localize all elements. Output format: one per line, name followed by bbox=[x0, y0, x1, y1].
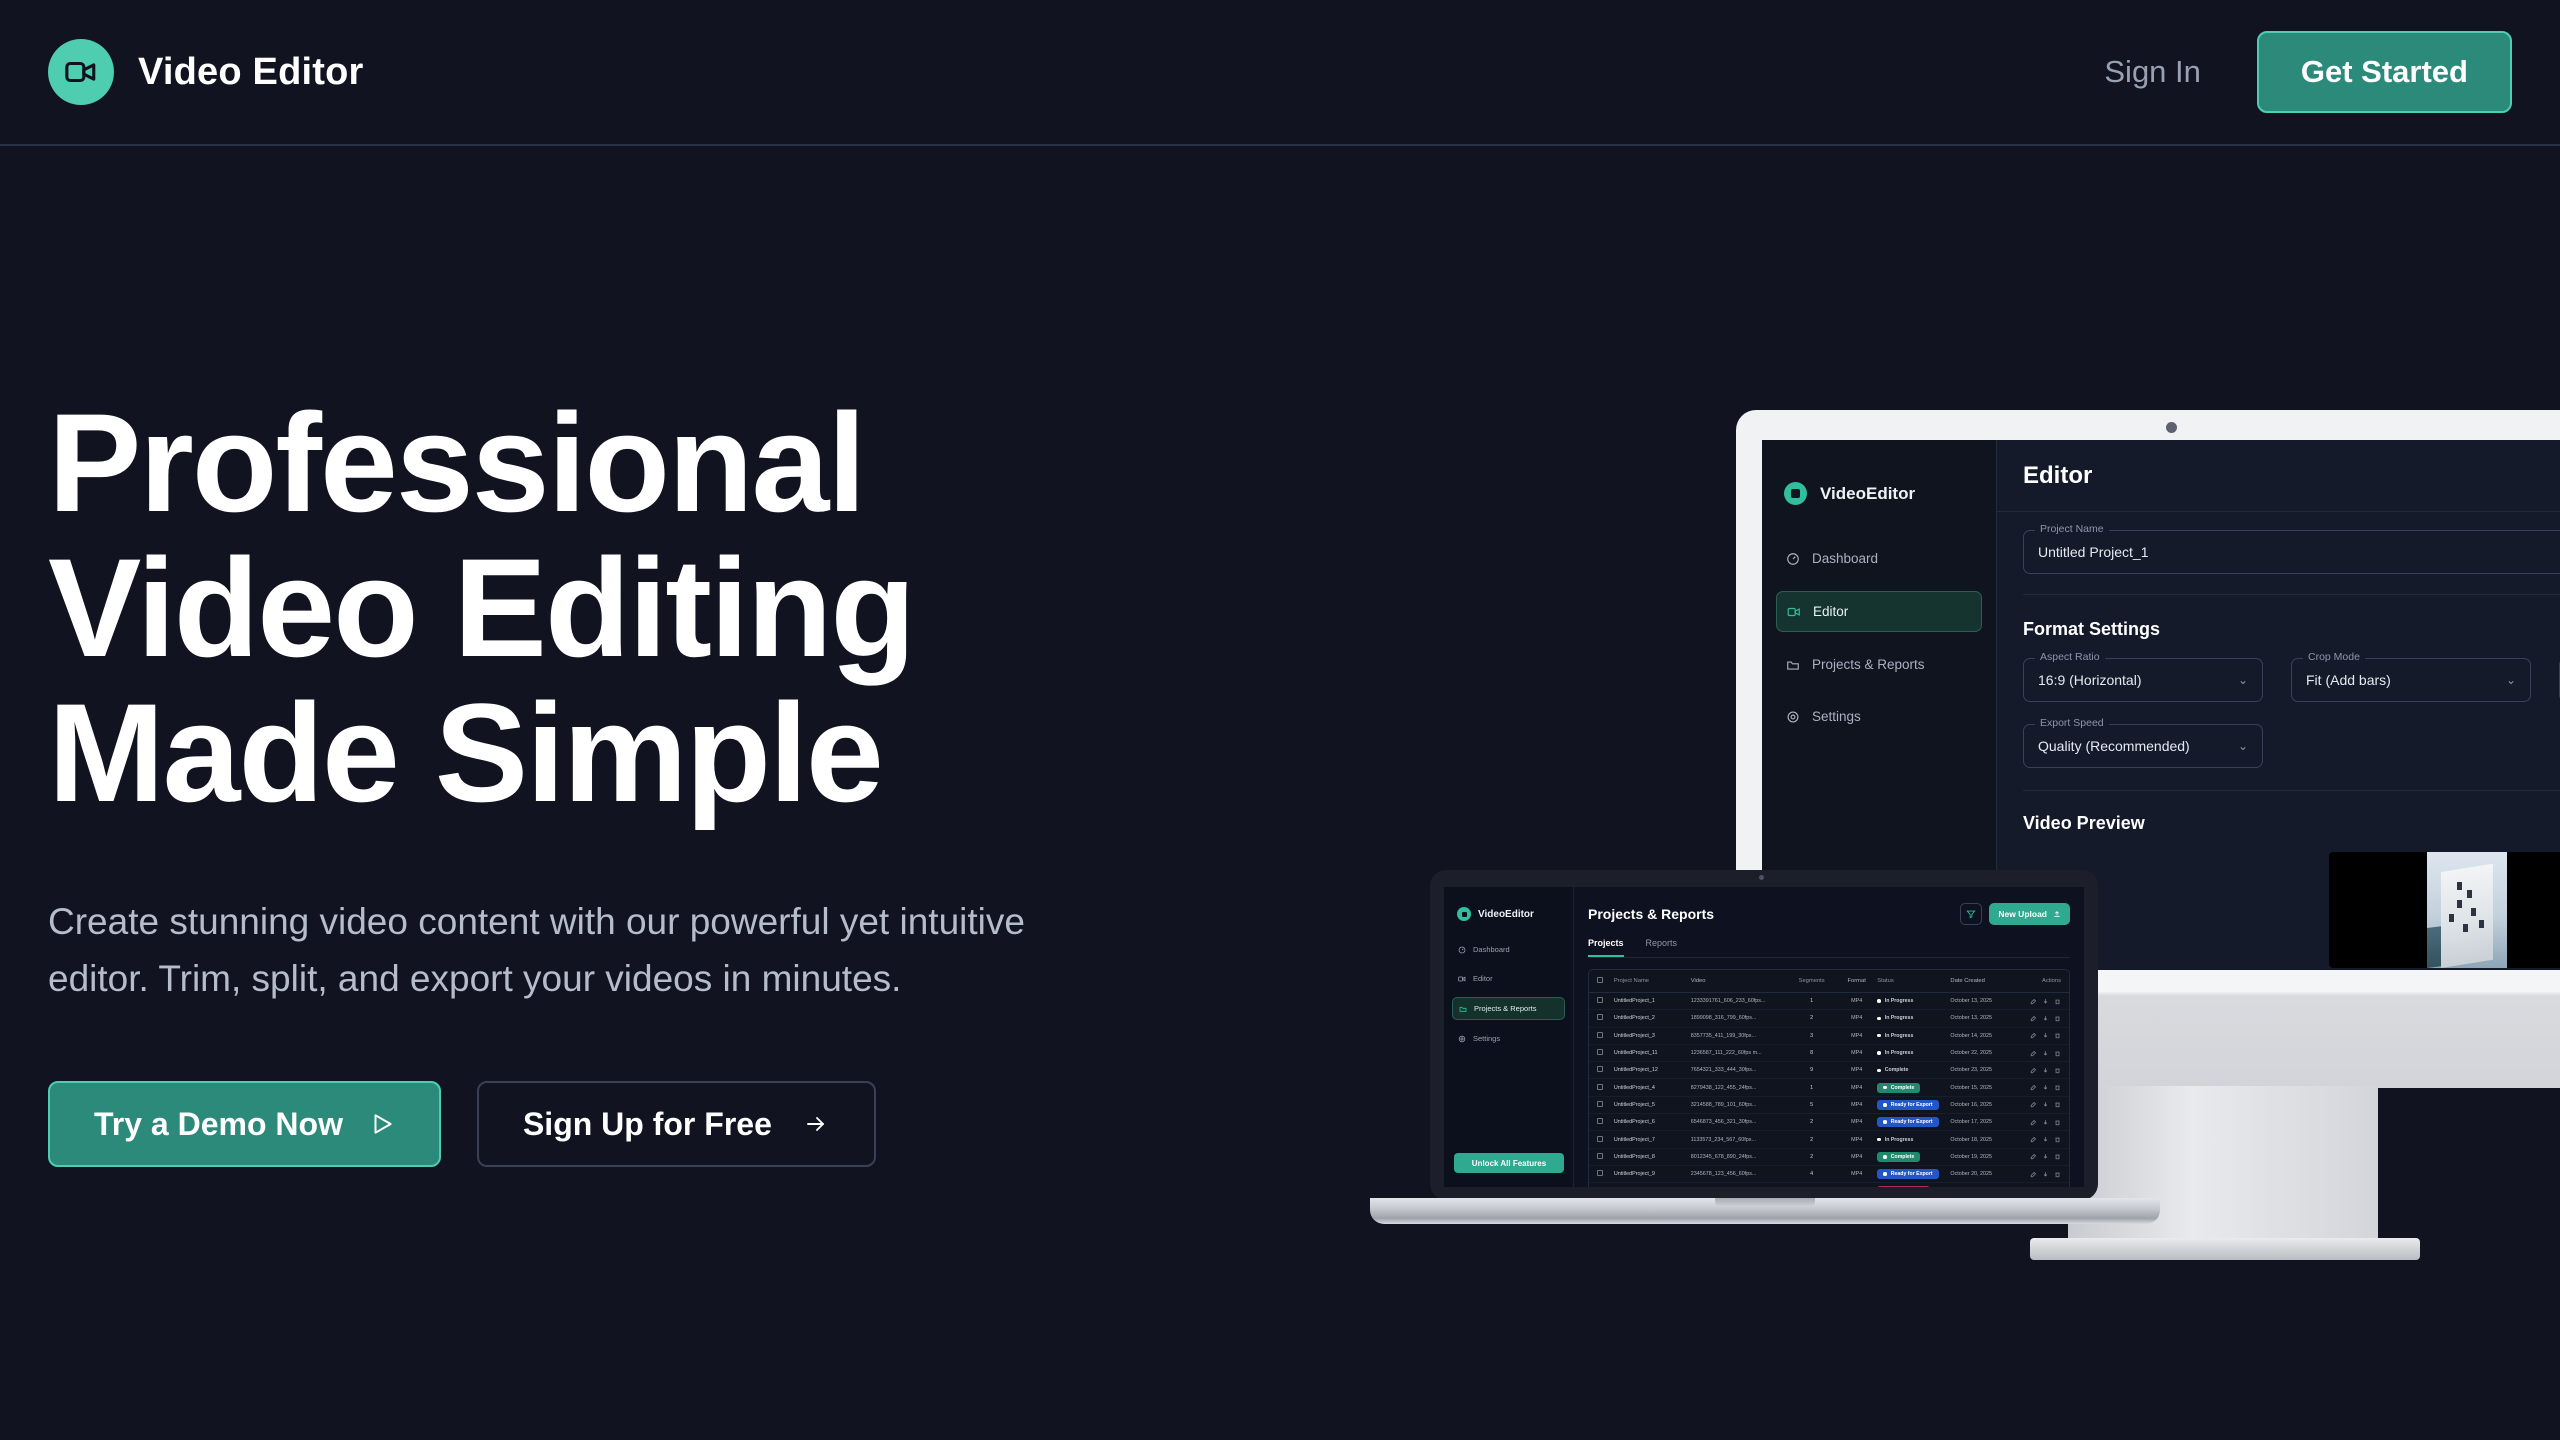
status-badge: In Progress bbox=[1877, 1013, 1919, 1023]
divider bbox=[2023, 790, 2560, 791]
sidebar-item-settings[interactable]: Settings bbox=[1776, 697, 1982, 736]
folder-icon bbox=[1786, 658, 1800, 672]
cell-project-name: UntitledProject_5 bbox=[1614, 1102, 1691, 1108]
unlock-all-features-button[interactable]: Unlock All Features bbox=[1454, 1153, 1564, 1173]
table-row[interactable]: UntitledProject_111236587_111_222_60fps … bbox=[1589, 1045, 2069, 1062]
row-checkbox[interactable] bbox=[1597, 1066, 1614, 1074]
gauge-icon bbox=[1458, 946, 1466, 954]
table-row[interactable]: UntitledProject_66546873_456_321_30fps..… bbox=[1589, 1114, 2069, 1131]
cell-video: 1899098_316_799_60fps... bbox=[1691, 1015, 1788, 1021]
video-preview-frame bbox=[2329, 852, 2560, 968]
export-speed-label: Export Speed bbox=[2035, 717, 2109, 729]
edit-icon bbox=[2030, 1101, 2037, 1108]
export-speed-value: Quality (Recommended) bbox=[2038, 738, 2190, 754]
cell-project-name: UntitledProject_1 bbox=[1614, 998, 1691, 1004]
cell-date-created: October 19, 2025 bbox=[1950, 1154, 2019, 1160]
format-settings-title: Format Settings bbox=[2023, 619, 2560, 640]
cell-date-created: October 15, 2025 bbox=[1950, 1085, 2019, 1091]
heading-line-2: Video Editing bbox=[48, 529, 914, 686]
cell-date-created: October 13, 2025 bbox=[1950, 998, 2019, 1004]
laptop-header-actions: New Upload bbox=[1960, 903, 2070, 925]
play-icon bbox=[369, 1111, 395, 1137]
laptop-nav: Dashboard Editor Projects & Reports bbox=[1444, 939, 1573, 1049]
cell-status: In Progress bbox=[1877, 1013, 1950, 1023]
sidebar-item-dashboard[interactable]: Dashboard bbox=[1452, 939, 1565, 960]
column-header-format[interactable]: Format bbox=[1836, 978, 1877, 984]
cell-segments: 3 bbox=[1787, 1033, 1836, 1039]
project-name-field[interactable]: Project Name Untitled Project_1 bbox=[2023, 530, 2560, 574]
cell-segments: 2 bbox=[1787, 1119, 1836, 1125]
row-checkbox[interactable] bbox=[1597, 1049, 1614, 1057]
status-badge: Ready for Export bbox=[1877, 1100, 1938, 1110]
arrow-right-icon bbox=[802, 1112, 830, 1136]
editor-brand: VideoEditor bbox=[1784, 482, 1996, 505]
cell-project-name: UntitledProject_11 bbox=[1614, 1050, 1691, 1056]
project-name-label: Project Name bbox=[2035, 523, 2109, 535]
cell-format: MP4 bbox=[1836, 1015, 1877, 1021]
table-row[interactable]: UntitledProject_48279438_122_455_24fps..… bbox=[1589, 1079, 2069, 1096]
row-checkbox[interactable] bbox=[1597, 1136, 1614, 1144]
editor-nav: Dashboard Editor Projects & Reports Sett… bbox=[1762, 539, 1996, 736]
row-actions[interactable] bbox=[2020, 1171, 2061, 1178]
sidebar-item-projects-reports[interactable]: Projects & Reports bbox=[1776, 645, 1982, 684]
cell-date-created: October 13, 2025 bbox=[1950, 1015, 2019, 1021]
column-header-actions: Actions bbox=[2020, 978, 2061, 984]
laptop-header: Projects & Reports New Upload bbox=[1588, 903, 2070, 925]
video-icon bbox=[1458, 975, 1466, 983]
cell-format: MP4 bbox=[1836, 1050, 1877, 1056]
cell-segments: 2 bbox=[1787, 1015, 1836, 1021]
row-actions[interactable] bbox=[2020, 1067, 2061, 1074]
cell-format: MP4 bbox=[1836, 998, 1877, 1004]
row-checkbox[interactable] bbox=[1597, 997, 1614, 1005]
cell-format: MP4 bbox=[1836, 1119, 1877, 1125]
hero-section: Professional Video Editing Made Simple C… bbox=[48, 390, 1168, 1167]
heading-line-1: Professional bbox=[48, 384, 864, 541]
cell-status: Complete bbox=[1877, 1083, 1950, 1093]
row-actions[interactable] bbox=[2020, 1101, 2061, 1108]
video-camera-icon bbox=[1784, 482, 1807, 505]
hero-subtitle: Create stunning video content with our p… bbox=[48, 893, 1108, 1007]
row-actions[interactable] bbox=[2020, 1136, 2061, 1143]
header-actions: Sign In Get Started bbox=[2104, 31, 2512, 113]
video-camera-icon bbox=[48, 39, 114, 105]
download-icon bbox=[2042, 1084, 2049, 1091]
delete-icon bbox=[2054, 1136, 2061, 1143]
editor-topbar: Editor Save Exp bbox=[1997, 440, 2560, 512]
divider bbox=[2023, 594, 2560, 595]
edit-icon bbox=[2030, 1050, 2037, 1057]
row-checkbox[interactable] bbox=[1597, 1170, 1614, 1178]
gear-icon bbox=[1458, 1035, 1466, 1043]
cell-status: In Progress bbox=[1877, 1031, 1950, 1041]
row-checkbox[interactable] bbox=[1597, 1032, 1614, 1040]
format-settings-row-1: Aspect Ratio 16:9 (Horizontal) ⌄ Crop Mo… bbox=[2023, 658, 2560, 702]
row-checkbox[interactable] bbox=[1597, 1153, 1614, 1161]
sidebar-item-label: Editor bbox=[1813, 604, 1848, 619]
cell-date-created: October 18, 2025 bbox=[1950, 1137, 2019, 1143]
status-badge: In Progress bbox=[1877, 1048, 1919, 1058]
sidebar-item-label: Dashboard bbox=[1812, 551, 1878, 566]
download-icon bbox=[2042, 1153, 2049, 1160]
cell-status: Ready for Export bbox=[1877, 1117, 1950, 1127]
cell-segments: 9 bbox=[1787, 1067, 1836, 1073]
cell-project-name: UntitledProject_12 bbox=[1614, 1067, 1691, 1073]
tab-reports[interactable]: Reports bbox=[1646, 938, 1678, 957]
cell-format: MP4 bbox=[1836, 1102, 1877, 1108]
laptop-device: VideoEditor Dashboard Editor bbox=[1370, 870, 2160, 1230]
cell-video: 1236587_111_222_60fps m... bbox=[1691, 1050, 1788, 1056]
edit-icon bbox=[2030, 1032, 2037, 1039]
new-upload-label: New Upload bbox=[1998, 909, 2047, 919]
status-badge: In Progress bbox=[1877, 996, 1919, 1006]
sidebar-item-editor[interactable]: Editor bbox=[1452, 968, 1565, 989]
column-header-date-created[interactable]: Date Created bbox=[1950, 978, 2019, 984]
cell-format: MP4 bbox=[1836, 1085, 1877, 1091]
cell-video: 8357735_411_199_30fps... bbox=[1691, 1033, 1788, 1039]
table-body: UntitledProject_11233391761_606_233_60fp… bbox=[1589, 993, 2069, 1187]
row-actions[interactable] bbox=[2020, 1153, 2061, 1160]
laptop-brand: VideoEditor bbox=[1457, 907, 1573, 921]
projects-table: Project Name Video Segments Format Statu… bbox=[1588, 969, 2070, 1187]
get-started-button[interactable]: Get Started bbox=[2257, 31, 2512, 113]
sign-up-label: Sign Up for Free bbox=[523, 1106, 772, 1143]
table-row[interactable]: UntitledProject_21899098_316_799_60fps..… bbox=[1589, 1010, 2069, 1027]
row-checkbox[interactable] bbox=[1597, 1084, 1614, 1092]
sidebar-item-label: Editor bbox=[1473, 974, 1493, 983]
preview-thumbnail bbox=[2427, 852, 2507, 968]
status-badge: Ready for Export bbox=[1877, 1169, 1938, 1179]
sidebar-item-settings[interactable]: Settings bbox=[1452, 1028, 1565, 1049]
status-badge: Complete bbox=[1877, 1083, 1920, 1093]
edit-icon bbox=[2030, 1015, 2037, 1022]
delete-icon bbox=[2054, 1119, 2061, 1126]
download-icon bbox=[2042, 1067, 2049, 1074]
try-demo-label: Try a Demo Now bbox=[94, 1106, 343, 1143]
cell-status: In Progress bbox=[1877, 996, 1950, 1006]
table-row[interactable]: UntitledProject_38357735_411_199_30fps..… bbox=[1589, 1028, 2069, 1045]
delete-icon bbox=[2054, 1171, 2061, 1178]
status-badge: Complete bbox=[1877, 1065, 1914, 1075]
heading-line-3: Made Simple bbox=[48, 674, 882, 831]
projects-app-screen: VideoEditor Dashboard Editor bbox=[1444, 887, 2084, 1187]
editor-page-title: Editor bbox=[2023, 462, 2092, 490]
cell-video: 2345678_123_456_60fps... bbox=[1691, 1171, 1788, 1177]
row-actions[interactable] bbox=[2020, 998, 2061, 1005]
status-badge: Ready for Export bbox=[1877, 1117, 1938, 1127]
table-row[interactable]: UntitledProject_109876543_987_654_30fps.… bbox=[1589, 1183, 2069, 1187]
laptop-page-title: Projects & Reports bbox=[1588, 906, 1714, 922]
cell-status: Complete bbox=[1877, 1152, 1950, 1162]
filter-icon[interactable] bbox=[1960, 903, 1982, 925]
cell-video: 7654321_333_444_30fps... bbox=[1691, 1067, 1788, 1073]
column-header-project-name[interactable]: Project Name bbox=[1614, 978, 1691, 984]
gear-icon bbox=[1786, 710, 1800, 724]
table-row[interactable]: UntitledProject_53214588_789_101_60fps..… bbox=[1589, 1097, 2069, 1114]
video-preview-header: Video Preview Video player size bbox=[2023, 813, 2560, 834]
delete-icon bbox=[2054, 998, 2061, 1005]
row-actions[interactable] bbox=[2020, 1015, 2061, 1022]
edit-icon bbox=[2030, 1136, 2037, 1143]
cell-format: MP4 bbox=[1836, 1154, 1877, 1160]
laptop-camera-notch bbox=[1714, 870, 1810, 884]
tab-projects[interactable]: Projects bbox=[1588, 938, 1624, 957]
download-icon bbox=[2042, 1136, 2049, 1143]
cell-format: MP4 bbox=[1836, 1067, 1877, 1073]
laptop-tabs: Projects Reports bbox=[1588, 938, 2070, 958]
delete-icon bbox=[2054, 1015, 2061, 1022]
cell-project-name: UntitledProject_4 bbox=[1614, 1085, 1691, 1091]
status-badge: In Progress bbox=[1877, 1031, 1919, 1041]
cell-status: Export Failed bbox=[1877, 1186, 1950, 1187]
cell-segments: 4 bbox=[1787, 1171, 1836, 1177]
row-actions[interactable] bbox=[2020, 1050, 2061, 1057]
video-icon bbox=[1787, 605, 1801, 619]
table-header-row: Project Name Video Segments Format Statu… bbox=[1589, 970, 2069, 993]
cell-status: Ready for Export bbox=[1877, 1169, 1950, 1179]
video-camera-icon bbox=[1457, 907, 1471, 921]
download-icon bbox=[2042, 1032, 2049, 1039]
aspect-ratio-label: Aspect Ratio bbox=[2035, 651, 2105, 663]
column-header-status[interactable]: Status bbox=[1877, 978, 1950, 984]
folder-icon bbox=[1459, 1005, 1467, 1013]
export-speed-select[interactable]: Export Speed Quality (Recommended) ⌄ bbox=[2023, 724, 2263, 768]
cell-video: 8279438_122_455_24fps... bbox=[1691, 1085, 1788, 1091]
cell-video: 1133573_234_567_60fps... bbox=[1691, 1137, 1788, 1143]
laptop-base-notch bbox=[1715, 1198, 1815, 1207]
edit-icon bbox=[2030, 1171, 2037, 1178]
delete-icon bbox=[2054, 1084, 2061, 1091]
laptop-lid: VideoEditor Dashboard Editor bbox=[1430, 870, 2098, 1200]
delete-icon bbox=[2054, 1067, 2061, 1074]
table-row[interactable]: UntitledProject_88012345_678_890_24fps..… bbox=[1589, 1149, 2069, 1166]
cell-status: Ready for Export bbox=[1877, 1100, 1950, 1110]
cell-status: Complete bbox=[1877, 1065, 1950, 1075]
download-icon bbox=[2042, 1101, 2049, 1108]
column-header-segments[interactable]: Segments bbox=[1787, 978, 1836, 984]
laptop-sidebar: VideoEditor Dashboard Editor bbox=[1444, 887, 1574, 1187]
cell-segments: 8 bbox=[1787, 1050, 1836, 1056]
new-upload-button[interactable]: New Upload bbox=[1989, 903, 2070, 925]
row-actions[interactable] bbox=[2020, 1084, 2061, 1091]
sidebar-item-label: Dashboard bbox=[1473, 945, 1510, 954]
sidebar-item-dashboard[interactable]: Dashboard bbox=[1776, 539, 1982, 578]
cell-status: In Progress bbox=[1877, 1048, 1950, 1058]
cell-project-name: UntitledProject_8 bbox=[1614, 1154, 1691, 1160]
cell-format: MP4 bbox=[1836, 1137, 1877, 1143]
cell-format: MP4 bbox=[1836, 1171, 1877, 1177]
brand-name: Video Editor bbox=[138, 51, 364, 94]
cell-project-name: UntitledProject_2 bbox=[1614, 1015, 1691, 1021]
cell-date-created: October 23, 2025 bbox=[1950, 1067, 2019, 1073]
project-name-value: Untitled Project_1 bbox=[2038, 544, 2149, 560]
delete-icon bbox=[2054, 1101, 2061, 1108]
crop-mode-value: Fit (Add bars) bbox=[2306, 672, 2391, 688]
column-header-video[interactable]: Video bbox=[1691, 978, 1788, 984]
aspect-ratio-select[interactable]: Aspect Ratio 16:9 (Horizontal) ⌄ bbox=[2023, 658, 2263, 702]
edit-icon bbox=[2030, 1153, 2037, 1160]
download-icon bbox=[2042, 1119, 2049, 1126]
cell-date-created: October 14, 2025 bbox=[1950, 1033, 2019, 1039]
cell-video: 8012345_678_890_24fps... bbox=[1691, 1154, 1788, 1160]
page-title: Professional Video Editing Made Simple bbox=[48, 390, 1168, 825]
sidebar-item-label: Projects & Reports bbox=[1812, 657, 1925, 672]
download-icon bbox=[2042, 1171, 2049, 1178]
laptop-main: Projects & Reports New Upload bbox=[1574, 887, 2084, 1187]
sidebar-item-projects-reports[interactable]: Projects & Reports bbox=[1452, 997, 1565, 1020]
crop-mode-label: Crop Mode bbox=[2303, 651, 2365, 663]
chevron-down-icon: ⌄ bbox=[2238, 739, 2248, 753]
cell-segments: 1 bbox=[1787, 1085, 1836, 1091]
cell-format: MP4 bbox=[1836, 1033, 1877, 1039]
cell-date-created: October 20, 2025 bbox=[1950, 1171, 2019, 1177]
cell-project-name: UntitledProject_3 bbox=[1614, 1033, 1691, 1039]
table-row[interactable]: UntitledProject_92345678_123_456_60fps..… bbox=[1589, 1166, 2069, 1183]
webcam-icon bbox=[2166, 422, 2177, 433]
video-preview-title: Video Preview bbox=[2023, 813, 2145, 834]
cell-segments: 1 bbox=[1787, 998, 1836, 1004]
edit-icon bbox=[2030, 1067, 2037, 1074]
sign-up-button[interactable]: Sign Up for Free bbox=[477, 1081, 876, 1167]
row-checkbox[interactable] bbox=[1597, 1118, 1614, 1126]
editor-brand-name: VideoEditor bbox=[1820, 484, 1915, 504]
upload-icon bbox=[2053, 910, 2061, 918]
hero-cta-group: Try a Demo Now Sign Up for Free bbox=[48, 1081, 1168, 1167]
format-settings-row-2: Export Speed Quality (Recommended) ⌄ bbox=[2023, 724, 2560, 768]
row-checkbox[interactable] bbox=[1597, 1101, 1614, 1109]
cell-video: 6546873_456_321_30fps... bbox=[1691, 1119, 1788, 1125]
edit-icon bbox=[2030, 1084, 2037, 1091]
sidebar-item-label: Projects & Reports bbox=[1474, 1004, 1537, 1013]
aspect-ratio-value: 16:9 (Horizontal) bbox=[2038, 672, 2142, 688]
status-badge: In Progress bbox=[1877, 1135, 1919, 1145]
product-mockup: VideoEditor Dashboard Editor Projects & … bbox=[1330, 380, 2560, 1240]
download-icon bbox=[2042, 998, 2049, 1005]
cell-project-name: UntitledProject_9 bbox=[1614, 1171, 1691, 1177]
sidebar-item-label: Settings bbox=[1473, 1034, 1500, 1043]
cell-project-name: UntitledProject_7 bbox=[1614, 1137, 1691, 1143]
sidebar-item-editor[interactable]: Editor bbox=[1776, 591, 1982, 632]
chevron-down-icon: ⌄ bbox=[2238, 673, 2248, 687]
try-demo-button[interactable]: Try a Demo Now bbox=[48, 1081, 441, 1167]
select-all-checkbox[interactable] bbox=[1597, 977, 1614, 985]
cell-segments: 2 bbox=[1787, 1137, 1836, 1143]
crop-mode-select[interactable]: Crop Mode Fit (Add bars) ⌄ bbox=[2291, 658, 2531, 702]
row-checkbox[interactable] bbox=[1597, 1014, 1614, 1022]
cell-date-created: October 22, 2025 bbox=[1950, 1050, 2019, 1056]
cell-date-created: October 16, 2025 bbox=[1950, 1102, 2019, 1108]
edit-icon bbox=[2030, 998, 2037, 1005]
row-actions[interactable] bbox=[2020, 1119, 2061, 1126]
delete-icon bbox=[2054, 1050, 2061, 1057]
cell-segments: 5 bbox=[1787, 1102, 1836, 1108]
cell-video: 3214588_789_101_60fps... bbox=[1691, 1102, 1788, 1108]
row-actions[interactable] bbox=[2020, 1032, 2061, 1039]
site-header: Video Editor Sign In Get Started bbox=[0, 0, 2560, 146]
cell-project-name: UntitledProject_6 bbox=[1614, 1119, 1691, 1125]
sign-in-link[interactable]: Sign In bbox=[2104, 54, 2201, 90]
sidebar-item-label: Settings bbox=[1812, 709, 1861, 724]
delete-icon bbox=[2054, 1032, 2061, 1039]
delete-icon bbox=[2054, 1153, 2061, 1160]
edit-icon bbox=[2030, 1119, 2037, 1126]
gauge-icon bbox=[1786, 552, 1800, 566]
cell-video: 1233391761_606_233_60fps... bbox=[1691, 998, 1788, 1004]
status-badge: Complete bbox=[1877, 1152, 1920, 1162]
chevron-down-icon: ⌄ bbox=[2506, 673, 2516, 687]
monitor-stand-foot bbox=[2030, 1238, 2420, 1260]
table-row[interactable]: UntitledProject_11233391761_606_233_60fp… bbox=[1589, 993, 2069, 1010]
download-icon bbox=[2042, 1050, 2049, 1057]
laptop-brand-name: VideoEditor bbox=[1478, 909, 1534, 920]
download-icon bbox=[2042, 1015, 2049, 1022]
cell-status: In Progress bbox=[1877, 1135, 1950, 1145]
brand[interactable]: Video Editor bbox=[48, 39, 364, 105]
cell-segments: 2 bbox=[1787, 1154, 1836, 1160]
table-row[interactable]: UntitledProject_127654321_333_444_30fps.… bbox=[1589, 1062, 2069, 1079]
table-row[interactable]: UntitledProject_71133573_234_567_60fps..… bbox=[1589, 1131, 2069, 1148]
cell-date-created: October 17, 2025 bbox=[1950, 1119, 2019, 1125]
status-badge: Export Failed bbox=[1877, 1186, 1929, 1187]
